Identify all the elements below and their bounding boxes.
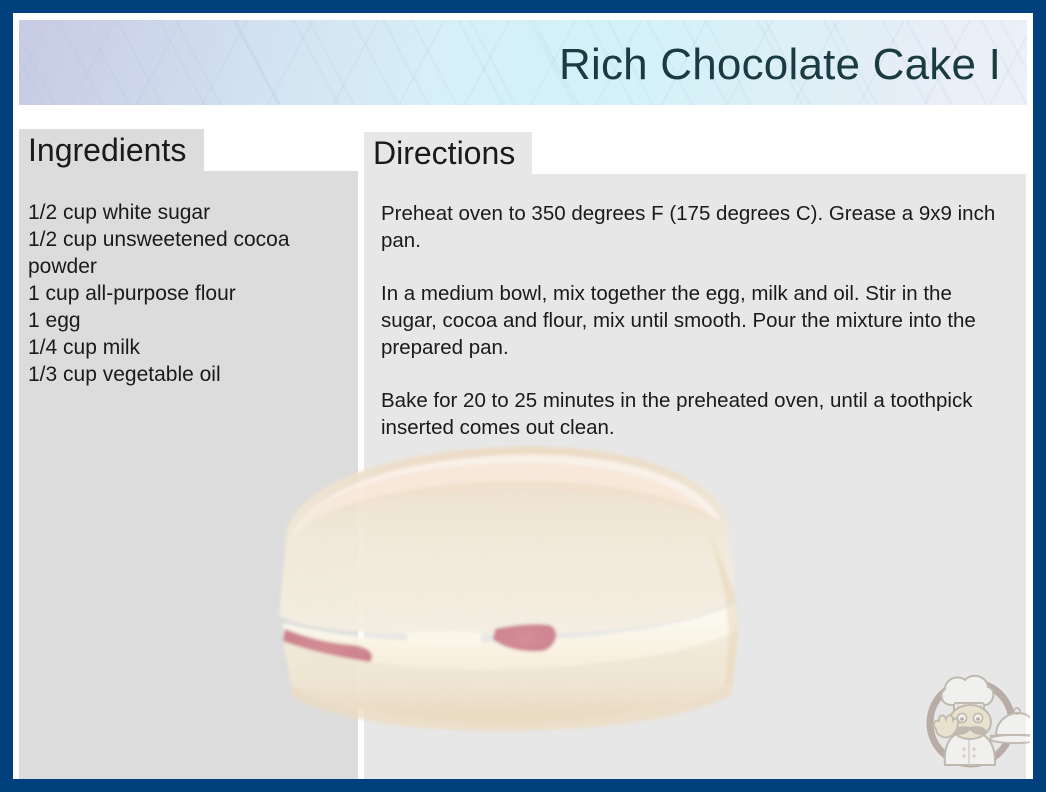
- directions-heading: Directions: [364, 132, 532, 174]
- title-banner: Rich Chocolate Cake I: [19, 20, 1027, 105]
- directions-list: Preheat oven to 350 degrees F (175 degre…: [381, 200, 1007, 441]
- list-item: 1/3 cup vegetable oil: [28, 361, 344, 388]
- ingredients-list: 1/2 cup white sugar 1/2 cup unsweetened …: [28, 199, 344, 388]
- list-item: 1/2 cup white sugar: [28, 199, 344, 226]
- direction-step: Bake for 20 to 25 minutes in the preheat…: [381, 387, 1007, 441]
- chef-logo-glyph: [930, 676, 1030, 765]
- direction-step: In a medium bowl, mix together the egg, …: [381, 280, 1007, 361]
- ingredients-panel: 1/2 cup white sugar 1/2 cup unsweetened …: [19, 171, 358, 791]
- list-item: 1 egg: [28, 307, 344, 334]
- list-item: 1/4 cup milk: [28, 334, 344, 361]
- direction-step: Preheat oven to 350 degrees F (175 degre…: [381, 200, 1007, 254]
- list-item: 1/2 cup unsweetened cocoa powder: [28, 226, 344, 280]
- page-title: Rich Chocolate Cake I: [559, 40, 1001, 90]
- recipe-slide: Rich Chocolate Cake I Ingredients 1/2 cu…: [0, 0, 1046, 792]
- list-item: 1 cup all-purpose flour: [28, 280, 344, 307]
- chef-logo: [912, 657, 1030, 775]
- ingredients-heading: Ingredients: [19, 129, 204, 171]
